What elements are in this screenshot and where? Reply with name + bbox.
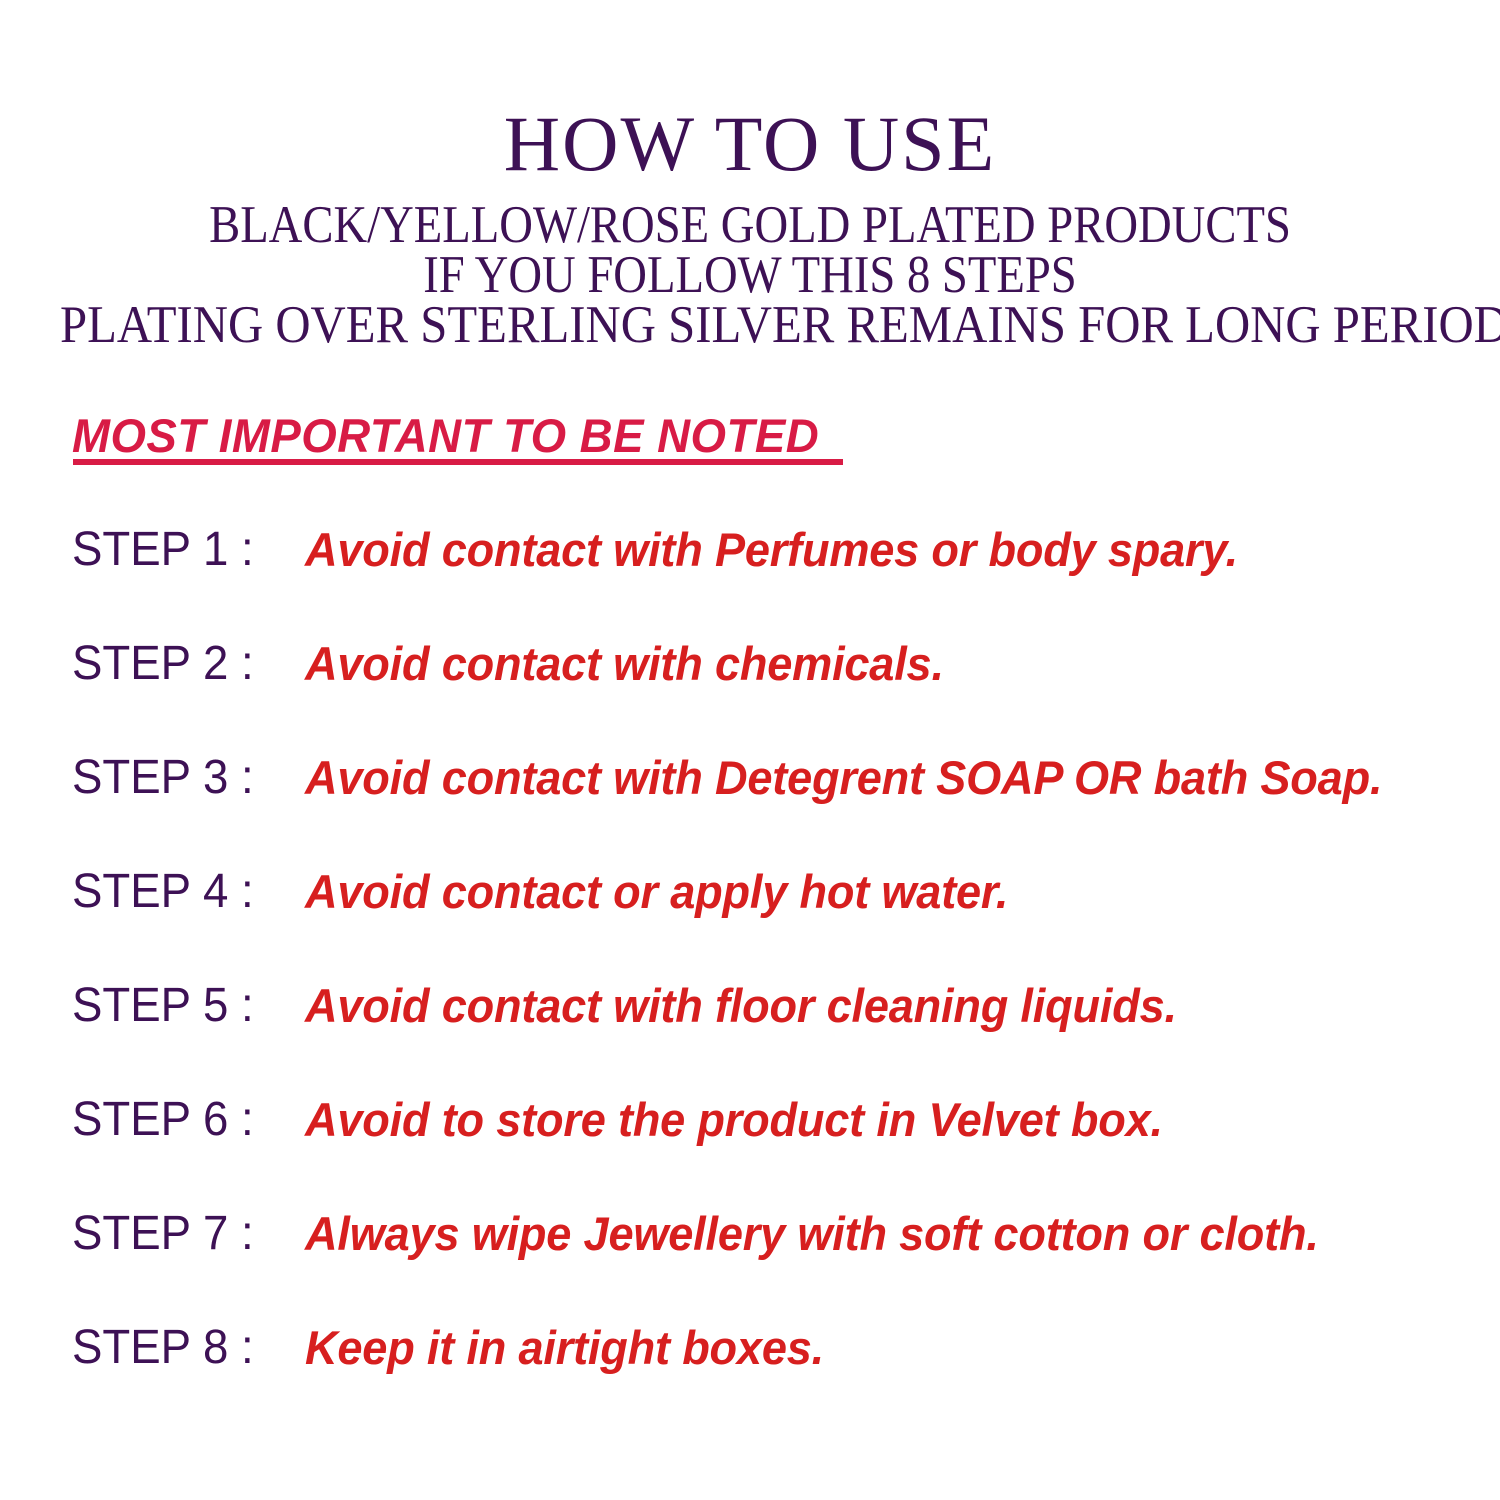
step-label-3: STEP 3 : (72, 747, 254, 809)
step-label-5: STEP 5 : (72, 975, 254, 1037)
step-row: STEP 1 : Avoid contact with Perfumes or … (0, 519, 1500, 633)
section-heading: MOST IMPORTANT TO BE NOTED (72, 410, 819, 462)
section-heading-underline (73, 459, 843, 465)
step-row: STEP 3 : Avoid contact with Detegrent SO… (0, 747, 1500, 861)
step-row: STEP 5 : Avoid contact with floor cleani… (0, 975, 1500, 1089)
step-text-3: Avoid contact with Detegrent SOAP OR bat… (305, 747, 1382, 809)
subtitle-block: BLACK/YELLOW/ROSE GOLD PLATED PRODUCTS I… (0, 200, 1500, 350)
subtitle-line-3: PLATING OVER STERLING SILVER REMAINS FOR… (60, 300, 1440, 350)
subtitle-line-1: BLACK/YELLOW/ROSE GOLD PLATED PRODUCTS (90, 200, 1410, 250)
step-text-5: Avoid contact with floor cleaning liquid… (305, 975, 1177, 1037)
step-label-6: STEP 6 : (72, 1089, 254, 1151)
page-title: HOW TO USE (0, 96, 1500, 192)
steps-list: STEP 1 : Avoid contact with Perfumes or … (0, 519, 1500, 1431)
step-row: STEP 7 : Always wipe Jewellery with soft… (0, 1203, 1500, 1317)
step-label-4: STEP 4 : (72, 861, 254, 923)
how-to-use-infographic: HOW TO USE BLACK/YELLOW/ROSE GOLD PLATED… (0, 0, 1500, 1500)
step-text-1: Avoid contact with Perfumes or body spar… (305, 519, 1238, 581)
subtitle-line-2: IF YOU FOLLOW THIS 8 STEPS (90, 250, 1410, 300)
step-text-4: Avoid contact or apply hot water. (305, 861, 1008, 923)
step-row: STEP 8 : Keep it in airtight boxes. (0, 1317, 1500, 1431)
step-row: STEP 2 : Avoid contact with chemicals. (0, 633, 1500, 747)
step-text-8: Keep it in airtight boxes. (305, 1317, 824, 1379)
step-row: STEP 6 : Avoid to store the product in V… (0, 1089, 1500, 1203)
step-label-1: STEP 1 : (72, 519, 254, 581)
step-label-2: STEP 2 : (72, 633, 254, 695)
step-label-7: STEP 7 : (72, 1203, 254, 1265)
step-text-7: Always wipe Jewellery with soft cotton o… (305, 1203, 1319, 1265)
step-text-6: Avoid to store the product in Velvet box… (305, 1089, 1163, 1151)
step-text-2: Avoid contact with chemicals. (305, 633, 944, 695)
step-label-8: STEP 8 : (72, 1317, 254, 1379)
step-row: STEP 4 : Avoid contact or apply hot wate… (0, 861, 1500, 975)
